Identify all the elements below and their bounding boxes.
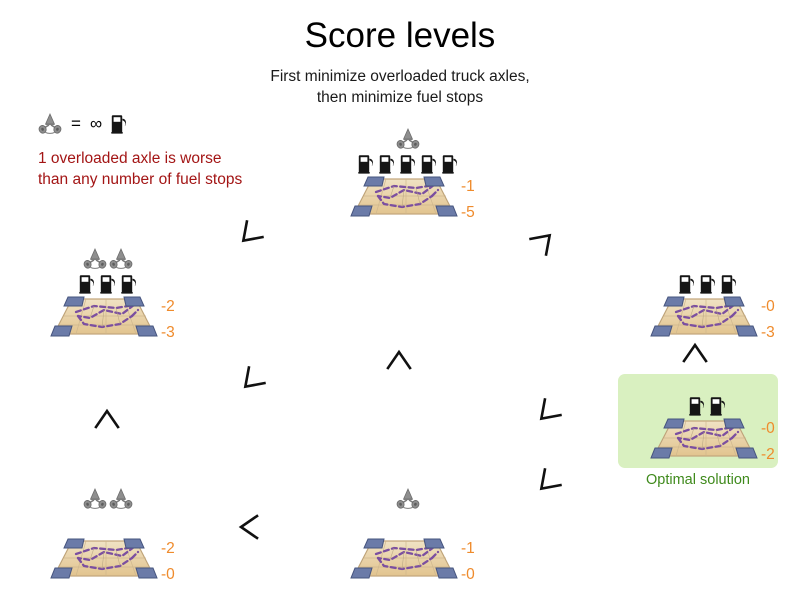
overloaded-axle-icon	[38, 113, 62, 135]
less-than-operator	[678, 336, 712, 370]
route-map-plate-wrapper[interactable]: -1-0	[333, 536, 483, 580]
fuel-pump-icon-row	[33, 510, 183, 536]
fuel-pump-icon	[379, 154, 396, 174]
score-values: -1-0	[461, 538, 475, 585]
fuel-pump-icon-row	[33, 270, 183, 294]
less-than-operator	[523, 389, 571, 437]
overloaded-axle-icon	[109, 488, 133, 510]
hard-score: -0	[761, 418, 775, 439]
legend-note-line-2: than any number of fuel stops	[38, 169, 242, 190]
overloaded-axle-icon	[109, 248, 133, 270]
less-than-operator	[527, 224, 561, 258]
fuel-pump-icon	[421, 154, 438, 174]
fuel-pump-icon	[121, 274, 138, 294]
fuel-pump-icon	[79, 274, 96, 294]
solution-node-left[interactable]: -2-3	[33, 244, 183, 338]
less-than-operator	[232, 218, 266, 252]
less-than-operator	[523, 459, 571, 507]
fuel-pump-icon	[700, 274, 717, 294]
less-than-operator	[234, 364, 268, 398]
route-map-plate	[50, 294, 158, 340]
route-map-plate	[350, 536, 458, 582]
fuel-pump-icon	[111, 114, 128, 134]
fuel-pump-icon-row	[633, 270, 783, 294]
route-map-plate	[650, 416, 758, 462]
solution-node-bottom-left[interactable]: -2-0	[33, 484, 183, 580]
less-than-operator	[232, 510, 266, 544]
fuel-pump-icon	[111, 114, 128, 134]
soft-score: -5	[461, 202, 475, 223]
soft-score: -2	[761, 444, 775, 465]
hard-score: -2	[161, 538, 175, 559]
less-than-operator	[90, 402, 124, 436]
overloaded-axle-icon-row	[333, 484, 483, 510]
subtitle-line-1: First minimize overloaded truck axles,	[0, 66, 800, 87]
route-map-plate-wrapper[interactable]: -0-2	[633, 416, 783, 460]
less-than-operator	[530, 466, 564, 500]
solution-node-top[interactable]: -1-5	[333, 124, 483, 218]
solution-node-right[interactable]: -0-3	[633, 270, 783, 338]
fuel-pump-icon	[679, 274, 696, 294]
fuel-pump-icon-row	[633, 392, 783, 416]
legend-note: 1 overloaded axle is worse than any numb…	[38, 148, 242, 190]
soft-score: -0	[461, 564, 475, 585]
solution-node-bottom-center[interactable]: -1-0	[333, 484, 483, 580]
less-than-operator	[382, 343, 416, 377]
fuel-pump-icon	[358, 154, 375, 174]
fuel-pump-icon-row	[333, 150, 483, 174]
less-than-operator	[530, 396, 564, 430]
less-than-operator	[678, 336, 712, 370]
less-than-operator	[225, 211, 273, 259]
soft-score: -3	[161, 322, 175, 343]
score-levels-diagram: Score levels First minimize overloaded t…	[0, 0, 800, 600]
fuel-pump-icon	[710, 396, 727, 416]
fuel-pump-icon	[721, 274, 738, 294]
fuel-pump-icon	[100, 274, 117, 294]
fuel-pump-icon	[442, 154, 459, 174]
score-values: -2-3	[161, 296, 175, 343]
overloaded-axle-icon	[83, 248, 107, 270]
route-map-plate	[350, 174, 458, 220]
less-than-operator	[90, 402, 124, 436]
hard-score: -1	[461, 176, 475, 197]
overloaded-axle-icon	[396, 488, 420, 510]
solution-node-optimal[interactable]: -0-2	[633, 392, 783, 460]
overloaded-axle-icon-row	[33, 484, 183, 510]
score-values: -0-3	[761, 296, 775, 343]
legend-note-line-1: 1 overloaded axle is worse	[38, 148, 242, 169]
page-subtitle: First minimize overloaded truck axles, t…	[0, 66, 800, 108]
overloaded-axle-icon	[83, 488, 107, 510]
route-map-plate-wrapper[interactable]: -2-3	[33, 294, 183, 338]
legend-equivalence: = ∞	[38, 113, 128, 135]
hard-score: -0	[761, 296, 775, 317]
fuel-pump-icon	[400, 154, 417, 174]
route-map-plate-wrapper[interactable]: -1-5	[333, 174, 483, 218]
hard-score: -1	[461, 538, 475, 559]
overloaded-axle-icon	[396, 128, 420, 150]
infinity-symbol: ∞	[90, 114, 102, 134]
score-values: -0-2	[761, 418, 775, 465]
route-map-plate	[50, 536, 158, 582]
overloaded-axle-icon	[38, 113, 62, 135]
soft-score: -0	[161, 564, 175, 585]
route-map-plate-wrapper[interactable]: -0-3	[633, 294, 783, 338]
less-than-operator	[232, 510, 266, 544]
fuel-pump-icon-row	[333, 510, 483, 536]
score-values: -1-5	[461, 176, 475, 223]
fuel-pump-icon	[689, 396, 706, 416]
overloaded-axle-icon-row	[33, 244, 183, 270]
optimal-solution-label: Optimal solution	[618, 472, 778, 488]
soft-score: -3	[761, 322, 775, 343]
score-values: -2-0	[161, 538, 175, 585]
route-map-plate	[650, 294, 758, 340]
hard-score: -2	[161, 296, 175, 317]
equals-sign: =	[71, 114, 81, 134]
less-than-operator	[382, 343, 416, 377]
route-map-plate-wrapper[interactable]: -2-0	[33, 536, 183, 580]
page-title: Score levels	[0, 16, 800, 56]
overloaded-axle-icon-row	[333, 124, 483, 150]
subtitle-line-2: then minimize fuel stops	[0, 87, 800, 108]
less-than-operator	[227, 357, 275, 405]
less-than-operator	[520, 217, 568, 265]
